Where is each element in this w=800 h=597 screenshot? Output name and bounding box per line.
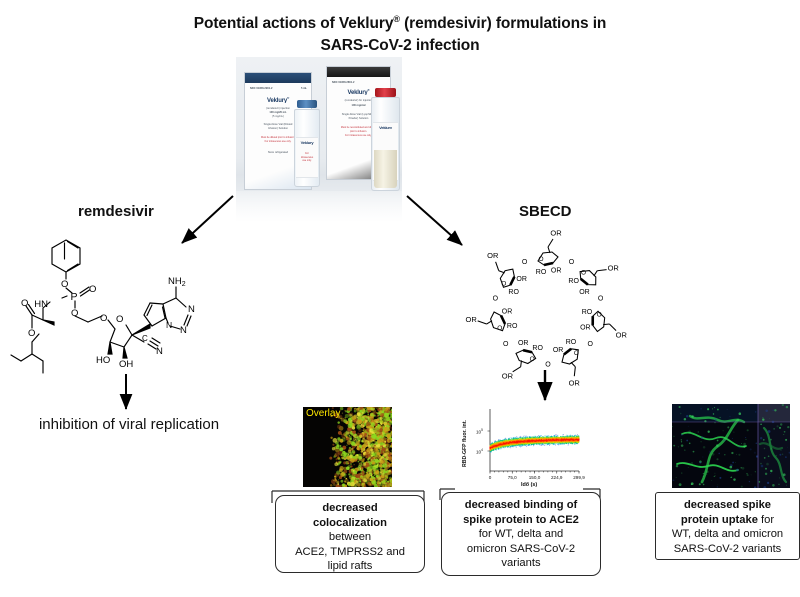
atom-label-o-carbonyl: O [21,298,28,309]
photo-surface-reflection [236,191,402,221]
coloc-plain-3: lipid rafts [328,560,373,572]
y-tick-label-0: 105 [476,428,483,435]
vial-warning: For intravenous use only. [300,152,314,162]
uptake-plain-1: WT, delta and omicron [672,528,783,540]
sbecd-or-label-2: OR [616,330,628,339]
x-tick-label-3: 224,9 [548,475,566,480]
vial2-brand: Veklury [377,126,393,129]
sbecd-ro-label-5: RO [507,323,518,330]
sbecd-ring-o-3: O [574,350,579,357]
sbecd-chemical-structure: OROROOROOROROOROOROROOROOROROOROOROROORO… [448,228,658,398]
coloc-plain-2: ACE2, TMPRSS2 and [295,546,405,558]
sbecd-or-inner-label-4: OR [518,340,529,347]
atom-label-o-ester2: O [28,328,35,339]
binding-plain-2: omicron SARS-CoV-2 [467,543,575,555]
title-line-1-part-b: (remdesivir) formulations in [400,15,606,32]
atom-label-oh: OH [119,359,133,370]
sbecd-glycosidic-o-6: O [522,259,528,266]
atom-label-o-double: O [89,284,96,295]
y-tick-label-1: 104 [476,448,483,455]
carton-size: 5 mL [301,87,307,90]
sbecd-glycosidic-o-0: O [569,259,575,266]
sbecd-or-inner-label-1: OR [579,289,590,296]
sbecd-ring-o-5: O [497,325,502,332]
binding-plain-1: for WT, delta and [479,528,564,540]
branch-label-sbecd: SBECD [519,203,572,220]
sbecd-glycosidic-o-3: O [545,362,551,369]
sbecd-ro-label-0: RO [536,269,547,276]
title-line-1-part-a: Potential actions of Veklury [194,15,394,32]
sbecd-or-inner-label-0: OR [551,267,562,274]
atom-label-ho: HO [96,355,110,366]
sbecd-ro-label-4: RO [532,345,543,352]
overlay-image-content [303,407,392,487]
sbecd-ro-label-6: RO [508,289,519,296]
atom-label-o-ester: O [71,308,78,319]
sbecd-or-label-5: OR [466,315,478,324]
rbd-gfp-binding-chart: RBD-GFP fluor. int. Idő (s) 075,0150,022… [455,403,583,491]
binding-bold-1: decreased binding of [465,499,578,511]
confocal-overlay-panel: Overlay [303,407,392,487]
chart-y-axis-title: RBD-GFP fluor. int. [462,420,468,467]
binding-bold-2: spike protein to ACE2 [463,514,579,526]
vial-cap-red [375,88,397,97]
remdesivir-chemical-structure: O P O HN O O O O O HO OH N C N N N NH2 [10,230,260,380]
sbecd-or-label-0: OR [550,229,562,238]
atom-label-n-bridge: N [166,320,172,330]
sbecd-glycosidic-o-4: O [503,341,509,348]
caption-decreased-uptake: decreased spike protein uptake for WT, d… [655,492,800,560]
branch-label-remdesivir: remdesivir [78,203,154,220]
sbecd-ro-label-2: RO [582,309,593,316]
carton-ndc: NDC 61958-2901-2 [250,87,273,90]
uptake-plain-2: SARS-CoV-2 variants [674,543,782,555]
vial-label: Veklury For intravenous use only. [296,137,318,178]
sbecd-or-label-3: OR [569,378,581,387]
sbecd-glycosidic-o-1: O [598,295,604,302]
figure-canvas: Potential actions of Veklury® (remdesivi… [0,0,800,597]
uptake-image-content [672,404,790,488]
vial2-lyophilized-cake [374,150,397,188]
sbecd-ring-o-0: O [538,256,543,263]
sbecd-or-inner-label-6: OR [516,276,527,283]
atom-label-o-sugar-link: O [100,313,107,324]
overlay-label: Overlay [306,408,340,419]
sbecd-or-inner-label-3: OR [553,347,564,354]
sbecd-or-label-6: OR [487,251,499,260]
sbecd-ring-o-1: O [581,270,586,277]
carton-top-band-dark [327,67,390,77]
sbecd-ring-o-6: O [501,281,506,288]
x-tick-label-1: 75,0 [503,475,521,480]
coloc-bold-2: colocalization [313,517,387,529]
uptake-bold-2-tail: for [758,514,774,526]
sbecd-or-inner-label-5: OR [502,309,513,316]
atom-label-n-ring2: N [188,304,195,315]
page-title: Potential actions of Veklury® (remdesivi… [0,8,800,57]
vial-cap-blue [297,100,316,108]
atom-label-p: P [71,291,78,303]
outcome-inhibition-text: inhibition of viral replication [0,416,258,433]
carton2-ndc: NDC 61958-2801-2 [332,81,355,84]
atom-label-hn: HN [34,299,48,310]
sbecd-or-label-1: OR [608,264,620,273]
caption-decreased-binding: decreased binding of spike protein to AC… [441,492,601,576]
caption-decreased-colocalization: decreased colocalization between ACE2, T… [275,495,425,573]
veklury-lyophilized-vial: Veklury [371,97,400,191]
atom-label-nitrile-n: N [156,346,163,357]
sbecd-or-label-4: OR [502,371,514,380]
sbecd-ring-o-4: O [530,356,535,363]
atom-label-o-phenyl: O [61,279,68,290]
coloc-plain-1: between [329,531,371,543]
vial-brand: Veklury [300,141,314,144]
sbecd-ring-o-2: O [597,312,602,319]
atom-label-o-ring: O [116,314,123,325]
sbecd-glycosidic-o-5: O [493,295,499,302]
coloc-bold-1: decreased [322,502,377,514]
atom-label-n-ring1: N [180,325,187,336]
x-tick-label-2: 150,0 [526,475,544,480]
uptake-bold-2: protein uptake [681,514,758,526]
atom-label-nh2: NH2 [168,276,186,288]
chart-x-axis-title: Idő (s) [521,482,537,488]
atom-label-nitrile-c: C [142,334,148,343]
title-line-2: SARS-CoV-2 infection [320,37,479,54]
sbecd-ro-label-1: RO [568,278,579,285]
sbecd-glycosidic-o-2: O [587,341,593,348]
uptake-bold-1: decreased spike [684,499,771,511]
spike-uptake-confocal-panel [672,404,790,488]
sbecd-ro-label-3: RO [566,339,577,346]
binding-plain-3: variants [501,557,540,569]
x-tick-label-4: 299,9 [570,475,588,480]
veklury-solution-vial: Veklury For intravenous use only. [294,109,320,187]
carton-top-band-blue [245,73,311,83]
sbecd-or-inner-label-2: OR [580,324,591,331]
veklury-product-photo: NDC 61958-2901-2 5 mL Veklury® (remdesiv… [236,57,402,221]
x-tick-label-0: 0 [481,475,499,480]
